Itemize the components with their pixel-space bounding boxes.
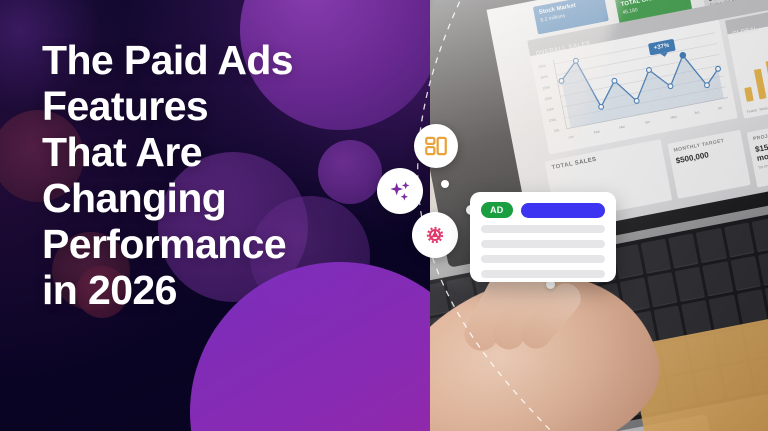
layout-grid-icon-glyph: [423, 133, 449, 159]
global-bar-chart: [738, 52, 768, 101]
svg-text:Apr: Apr: [645, 120, 652, 125]
ad-text-line: [481, 270, 605, 278]
decorative-dot: [441, 180, 449, 188]
gear-icon-glyph: [422, 222, 448, 248]
ad-headline-placeholder: [521, 203, 605, 218]
ad-text-line: [481, 240, 605, 248]
ad-text-line: [481, 255, 605, 263]
svg-text:Jun: Jun: [694, 110, 700, 115]
ad-card-header: AD: [481, 202, 605, 218]
left-text-panel: The Paid Ads Features That Are Changing …: [0, 0, 434, 431]
svg-text:Mar: Mar: [619, 124, 626, 129]
gear-icon[interactable]: [412, 212, 458, 258]
ad-preview-card[interactable]: AD: [470, 192, 616, 282]
global-bar-labels: FinancRetaiOthe: [746, 103, 768, 114]
svg-text:Jul: Jul: [717, 106, 722, 111]
promo-banner: The Paid Ads Features That Are Changing …: [0, 0, 768, 431]
project-budget-card: PROJECT BUDGET $150,000 per month for im…: [747, 118, 768, 188]
sparkles-icon[interactable]: [377, 168, 423, 214]
monthly-target-card: MONTHLY TARGET $500,000: [667, 130, 750, 199]
layout-grid-icon[interactable]: [414, 124, 458, 168]
page-title: The Paid Ads Features That Are Changing …: [42, 38, 402, 313]
sparkles-icon-glyph: [387, 178, 414, 205]
svg-text:May: May: [670, 115, 677, 120]
ad-text-line: [481, 225, 605, 233]
ad-badge: AD: [481, 202, 513, 218]
svg-text:Feb: Feb: [594, 130, 601, 135]
